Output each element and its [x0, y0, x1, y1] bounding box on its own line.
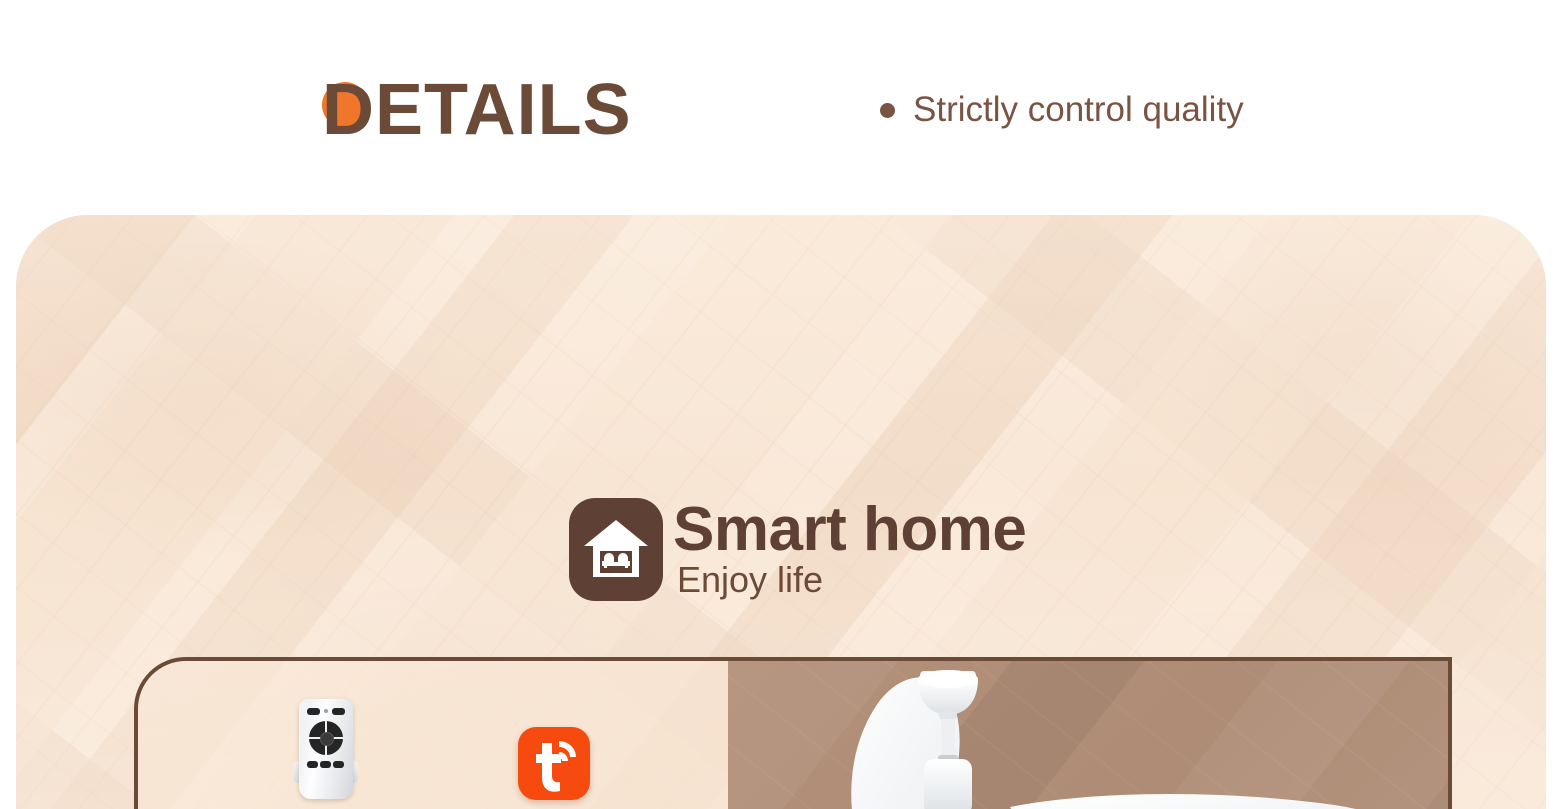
- smart-home-logo: Smart home Enjoy life: [569, 498, 1026, 601]
- smart-home-logo-text: Smart home Enjoy life: [673, 498, 1026, 600]
- bullet-dot-icon: [880, 103, 895, 118]
- page-title: DETAILS: [322, 70, 632, 150]
- remote-key-bottom-3: [333, 761, 344, 768]
- remote-dial-center: [320, 732, 334, 746]
- remote-body: [299, 699, 353, 799]
- feature-panel-right: [728, 661, 1448, 809]
- remote-key-bottom-2: [320, 761, 331, 768]
- smart-home-subtitle: Enjoy life: [677, 560, 1026, 600]
- tuya-smart-app-icon: [518, 727, 590, 800]
- remote-key-top-right: [332, 708, 345, 715]
- remote-led-icon: [324, 709, 328, 713]
- page-header: DETAILS Strictly control quality: [0, 0, 1562, 215]
- feature-panel-left: [138, 661, 728, 809]
- ceiling-fan-icon: [814, 661, 1448, 809]
- smart-home-house-icon: [569, 498, 663, 601]
- smart-home-title: Smart home: [673, 498, 1026, 562]
- remote-key-bottom-1: [307, 761, 318, 768]
- remote-key-top-left: [307, 708, 320, 715]
- tagline-group: Strictly control quality: [880, 88, 1244, 132]
- remote-control-icon: [299, 699, 353, 799]
- feature-banner: Smart home Enjoy life: [16, 215, 1546, 809]
- tagline-text: Strictly control quality: [913, 88, 1244, 132]
